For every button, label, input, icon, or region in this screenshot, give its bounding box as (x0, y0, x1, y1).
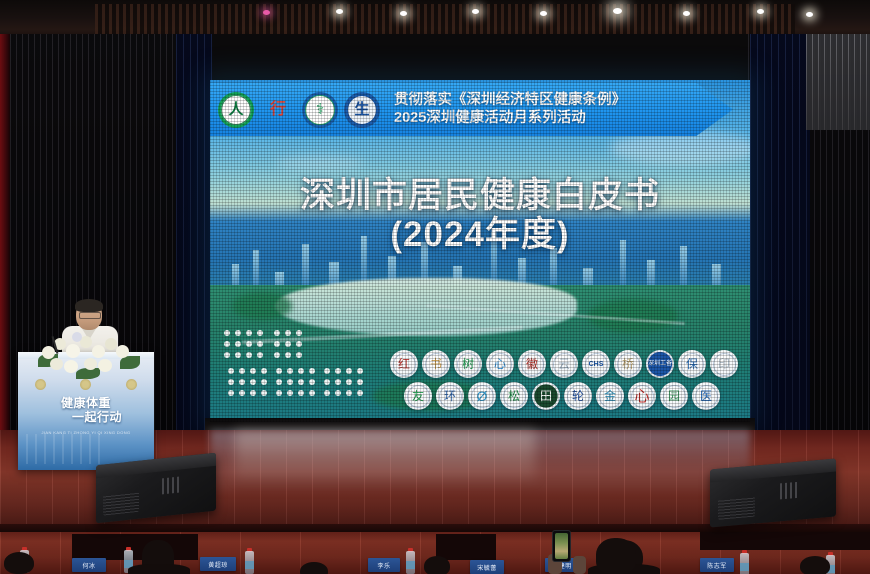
monitor-grille (718, 497, 756, 520)
podium-emblems (18, 378, 154, 390)
phone-screen (555, 533, 568, 559)
green-health-emblem-icon: 人 (218, 92, 254, 128)
title-line-1: 深圳市居民健康白皮书 (210, 176, 750, 215)
audience-head (800, 556, 830, 574)
podium-emblem-icon (80, 379, 91, 390)
dot-decoration-lower (228, 368, 267, 396)
flower (66, 344, 80, 358)
bottle-label (406, 561, 415, 569)
flower (42, 346, 55, 359)
name-placard: 陈志军 (700, 558, 734, 572)
sponsor-logo: 书 (422, 350, 450, 378)
sponsor-logo: 医 (692, 382, 720, 410)
banner-logo-group: 人 行 ⚕ 生 (218, 92, 380, 128)
sponsor-logo: 徽 (518, 350, 546, 378)
table-dark-recess (436, 534, 496, 560)
side-curtain-navy-right (750, 34, 810, 434)
flower (116, 345, 129, 358)
flower (98, 359, 112, 372)
sponsor-logo: 心 (628, 382, 656, 410)
health-bureau-seal-icon: 生 (344, 92, 380, 128)
sponsor-logo-grid: 红 书 树 心 徽 云 CHS 桥 深圳工备 保 印 友 环 Ø 松 田 轮 金… (390, 350, 742, 410)
banner-line-1: 贯彻落实《深圳经济特区健康条例》 (394, 92, 626, 110)
stage-monitor-speaker-right (710, 458, 836, 527)
event-banner: 人 行 ⚕ 生 贯彻落实《深圳经济特区健康条例》 2025深圳健康活动月系列活动 (210, 83, 733, 136)
sponsor-logo: 环 (436, 382, 464, 410)
conference-stage-photo: 人 行 ⚕ 生 贯彻落实《深圳经济特区健康条例》 2025深圳健康活动月系列活动… (0, 0, 870, 574)
bottle-label (740, 563, 749, 571)
water-bottle[interactable] (740, 550, 749, 574)
healthy-china-action-brush-logo-icon: 行 (260, 92, 296, 128)
flower (92, 345, 105, 358)
sponsor-logo: 印 (710, 350, 738, 378)
speaker-hair (75, 299, 103, 312)
ceiling-light (806, 12, 813, 17)
dot-decoration-lower-2 (276, 368, 315, 396)
sponsor-logo: 园 (660, 382, 688, 410)
sponsor-logo: 云 (550, 350, 578, 378)
flower (50, 358, 63, 370)
sponsor-logo: 保 (678, 350, 706, 378)
podium-emblem-icon (126, 379, 137, 390)
dot-decoration-upper-2 (274, 330, 302, 358)
podium-slogan-line-2: 一起行动 (18, 410, 154, 424)
title-line-2: (2024年度) (210, 215, 750, 254)
ceiling-light (263, 10, 270, 15)
flower (72, 332, 82, 342)
speaker-glasses (79, 312, 101, 319)
ceiling-light (757, 9, 764, 14)
table-dark-recess (700, 532, 870, 550)
screen-reflection-warm (235, 430, 535, 480)
audience-head (424, 556, 450, 574)
ceiling-light (472, 9, 479, 14)
audience-head (4, 552, 34, 574)
bottle-label (245, 561, 254, 569)
sponsor-logo: 轮 (564, 382, 592, 410)
podium-decorative-pattern (26, 434, 106, 464)
side-curtain-navy-left (176, 34, 212, 434)
ceiling-light (613, 8, 622, 14)
banner-text: 贯彻落实《深圳经济特区健康条例》 2025深圳健康活动月系列活动 (394, 92, 626, 127)
sponsor-logo: 深圳工备 (646, 350, 674, 378)
podium-slogan: 健康体重 一起行动 (18, 396, 154, 425)
side-curtain-red (0, 34, 10, 434)
led-display-screen: 人 行 ⚕ 生 贯彻落实《深圳经济特区健康条例》 2025深圳健康活动月系列活动… (210, 80, 750, 422)
name-placard: 黄超琼 (200, 557, 236, 571)
flower (84, 358, 97, 370)
ceiling-light (400, 11, 407, 16)
smartphone[interactable] (552, 530, 571, 562)
name-placard: 宋毓蕾 (470, 560, 504, 574)
sponsor-logo: 心 (486, 350, 514, 378)
audience-shoulders (128, 564, 190, 574)
banner-line-2: 2025深圳健康活动月系列活动 (394, 110, 626, 128)
ceiling-light (336, 9, 343, 14)
flower (105, 338, 117, 350)
podium-slogan-line-1: 健康体重 (18, 396, 154, 410)
sponsor-row-2: 友 环 Ø 松 田 轮 金 心 园 医 (390, 382, 742, 410)
dot-decoration-lower-3 (324, 368, 363, 396)
ceiling-light (540, 11, 547, 16)
sponsor-logo: Ø (468, 382, 496, 410)
sponsor-row-1: 红 书 树 心 徽 云 CHS 桥 深圳工备 保 印 (390, 350, 742, 378)
photographer-head (596, 538, 636, 574)
flower (64, 360, 78, 373)
sponsor-logo: 松 (500, 382, 528, 410)
sponsor-logo: 友 (404, 382, 432, 410)
tree-cluster (232, 292, 292, 320)
photographer-hand (573, 556, 586, 574)
table-dark-recess (72, 534, 198, 560)
audience-head (300, 562, 328, 574)
water-bottle[interactable] (245, 548, 254, 574)
sponsor-logo: 红 (390, 350, 418, 378)
monitor-brand-logo-icon (780, 482, 798, 500)
ceiling-light (683, 11, 690, 16)
shenzhen-cdc-seal-icon: ⚕ (302, 92, 338, 128)
sponsor-logo: 金 (596, 382, 624, 410)
dot-decoration-upper (224, 330, 263, 358)
presentation-title: 深圳市居民健康白皮书 (2024年度) (210, 176, 750, 254)
sponsor-logo: 桥 (614, 350, 642, 378)
podium-emblem-icon (35, 379, 46, 390)
name-placard: 李乐 (368, 558, 400, 572)
monitor-grille (103, 492, 139, 516)
sponsor-logo: CHS (582, 350, 610, 378)
name-placard: 何冰 (72, 558, 106, 572)
water-bottle[interactable] (406, 548, 415, 574)
sponsor-logo: 田 (532, 382, 560, 410)
upper-grey-drape-right (806, 34, 870, 130)
sponsor-logo: 树 (454, 350, 482, 378)
monitor-brand-logo-icon (162, 476, 180, 494)
